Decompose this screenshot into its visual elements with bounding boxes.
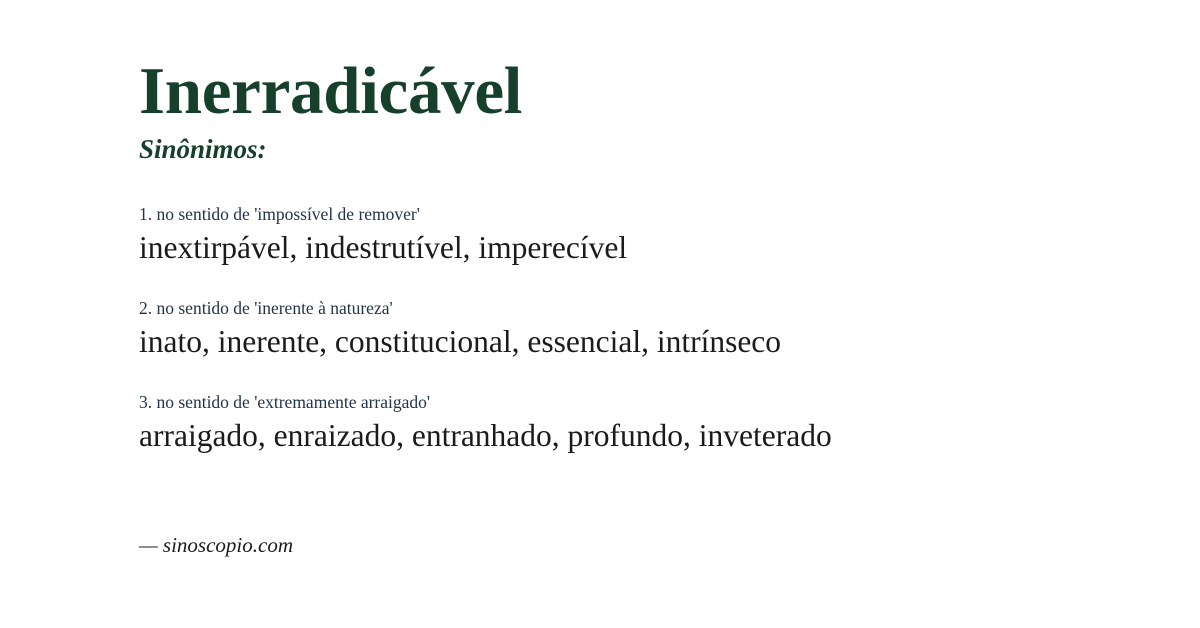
sense-label: 3. no sentido de 'extremamente arraigado… (139, 391, 1159, 415)
source-attribution: — sinoscopio.com (139, 533, 293, 558)
sense-synonyms: arraigado, enraizado, entranhado, profun… (139, 417, 1159, 455)
sense-list: 1. no sentido de 'impossível de remover'… (139, 203, 1159, 455)
sense-synonyms: inextirpável, indestrutível, imperecível (139, 229, 1159, 267)
card-header: Inerradicável Sinônimos: (139, 58, 522, 165)
sense-group: 3. no sentido de 'extremamente arraigado… (139, 391, 1159, 455)
card-footer: — sinoscopio.com (139, 533, 293, 558)
page-title: Inerradicável (139, 58, 522, 125)
sense-group: 2. no sentido de 'inerente à natureza' i… (139, 297, 1159, 361)
sense-group: 1. no sentido de 'impossível de remover'… (139, 203, 1159, 267)
sense-label: 2. no sentido de 'inerente à natureza' (139, 297, 1159, 321)
synonym-card: Inerradicável Sinônimos: 1. no sentido d… (0, 0, 1200, 628)
sense-synonyms: inato, inerente, constitucional, essenci… (139, 323, 1159, 361)
section-subtitle: Sinônimos: (139, 135, 522, 165)
sense-label: 1. no sentido de 'impossível de remover' (139, 203, 1159, 227)
